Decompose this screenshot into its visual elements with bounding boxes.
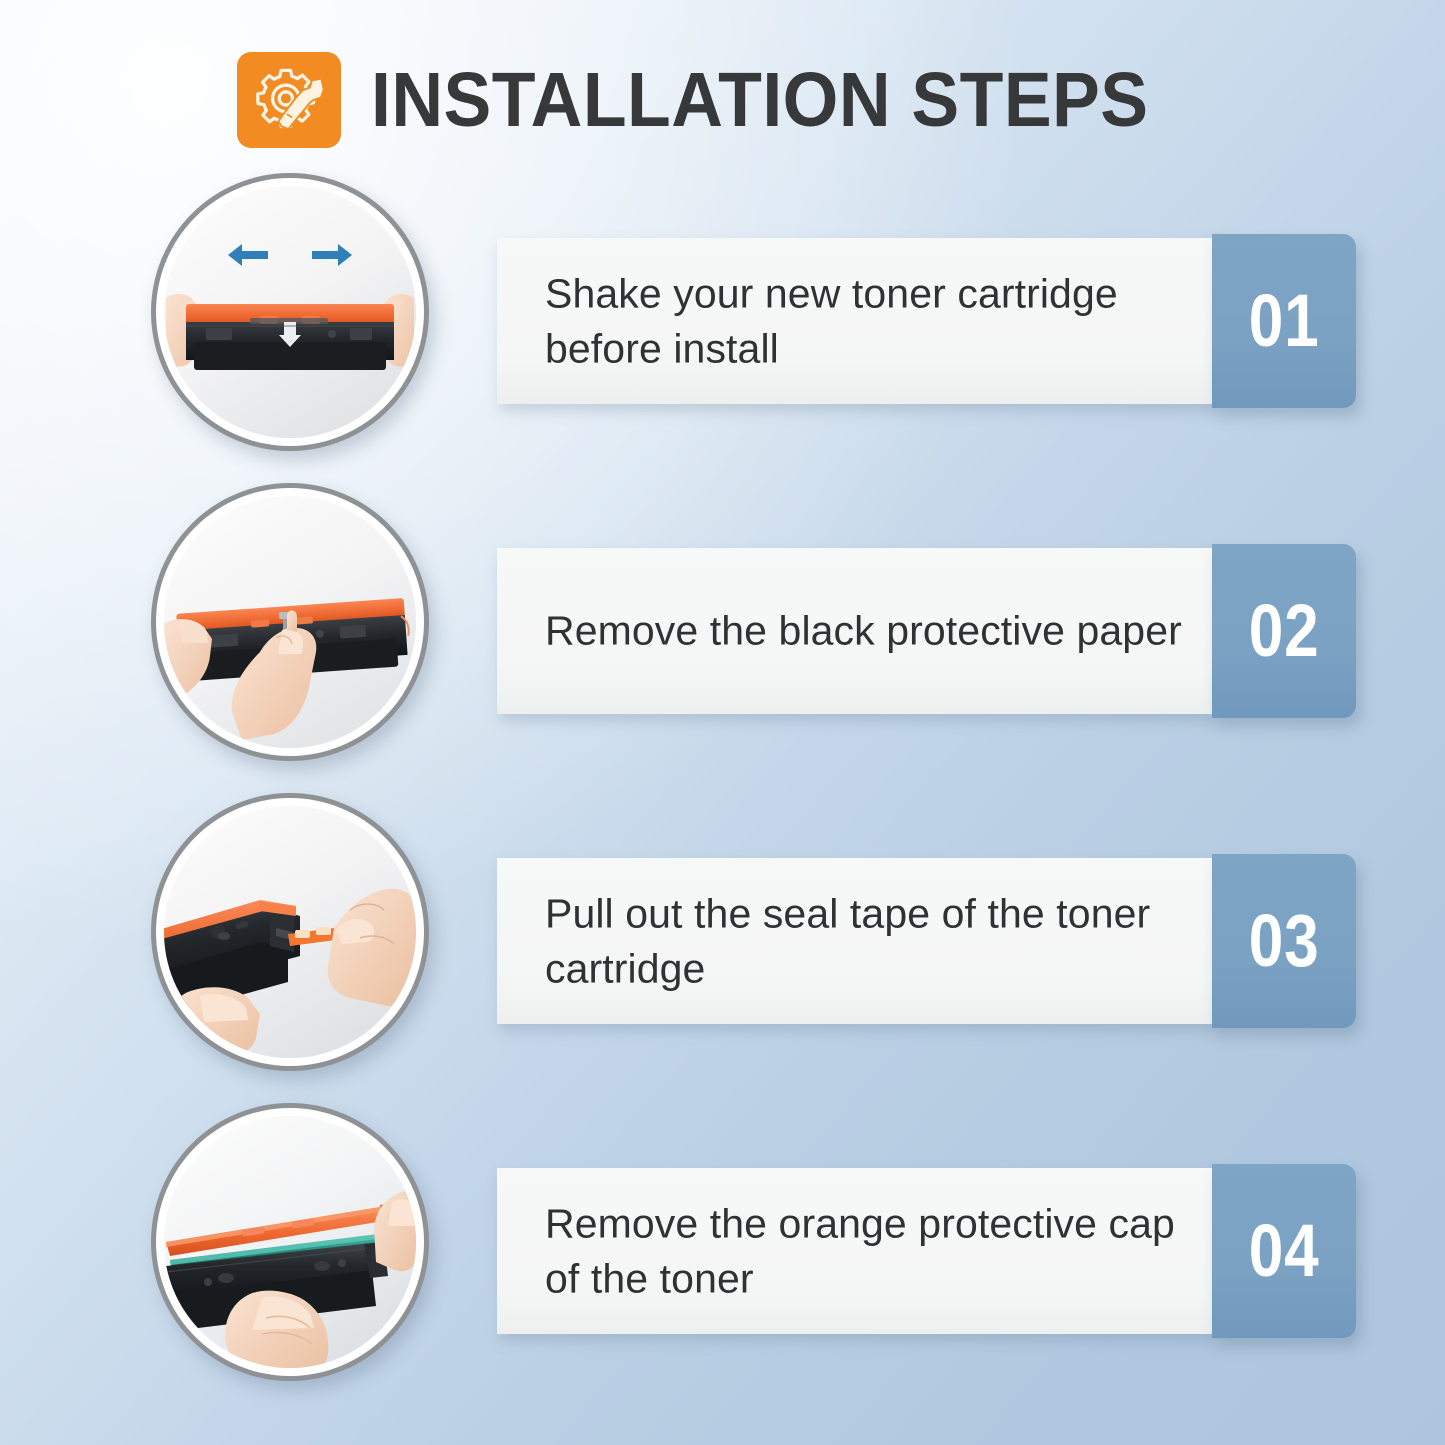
step-text: Pull out the seal tape of the toner cart…: [545, 886, 1185, 995]
step-number: 01: [1249, 284, 1320, 358]
step-number-badge-01: 01: [1212, 234, 1356, 408]
step-card-01: Shake your new toner cartridge before in…: [497, 234, 1356, 408]
step-number-badge-04: 04: [1212, 1164, 1356, 1338]
step-row-01: Shake your new toner cartridge before in…: [0, 156, 1445, 468]
step-card-panel: Remove the black protective paper: [497, 548, 1215, 714]
photo-image-01: [164, 186, 416, 438]
step-card-04: Remove the orange protective cap of the …: [497, 1164, 1356, 1338]
step-row-04: Remove the orange protective cap of the …: [0, 1086, 1445, 1398]
gear-wrench-icon: [237, 52, 341, 148]
step-text: Remove the orange protective cap of the …: [545, 1196, 1185, 1305]
step-card-panel: Shake your new toner cartridge before in…: [497, 238, 1215, 404]
step-text: Remove the black protective paper: [545, 604, 1185, 659]
photo-image-03: [164, 806, 416, 1058]
page-title: INSTALLATION STEPS: [371, 62, 1149, 139]
step-number: 04: [1249, 1214, 1320, 1288]
photo-remove-orange-cap: [151, 1103, 429, 1381]
step-card-03: Pull out the seal tape of the toner cart…: [497, 854, 1356, 1028]
step-number-badge-03: 03: [1212, 854, 1356, 1028]
toner-cartridge: [186, 304, 394, 370]
photo-pull-seal-tape: [151, 793, 429, 1071]
step-card-panel: Pull out the seal tape of the toner cart…: [497, 858, 1215, 1024]
step-number: 02: [1249, 594, 1320, 668]
photo-image-02: [164, 496, 416, 748]
photo-shake-cartridge: [151, 173, 429, 451]
photo-image-04: [164, 1116, 416, 1368]
poster-header: INSTALLATION STEPS: [0, 44, 1445, 156]
step-row-02: Remove the black protective paper 02: [0, 466, 1445, 778]
installation-steps-poster: INSTALLATION STEPS: [0, 0, 1445, 1445]
hand-holding-cartridge: [170, 987, 260, 1058]
step-row-03: Pull out the seal tape of the toner cart…: [0, 776, 1445, 1088]
photo-remove-black-paper: [151, 483, 429, 761]
step-number: 03: [1249, 904, 1320, 978]
step-card-panel: Remove the orange protective cap of the …: [497, 1168, 1215, 1334]
step-text: Shake your new toner cartridge before in…: [545, 266, 1185, 375]
step-card-02: Remove the black protective paper 02: [497, 544, 1356, 718]
step-number-badge-02: 02: [1212, 544, 1356, 718]
